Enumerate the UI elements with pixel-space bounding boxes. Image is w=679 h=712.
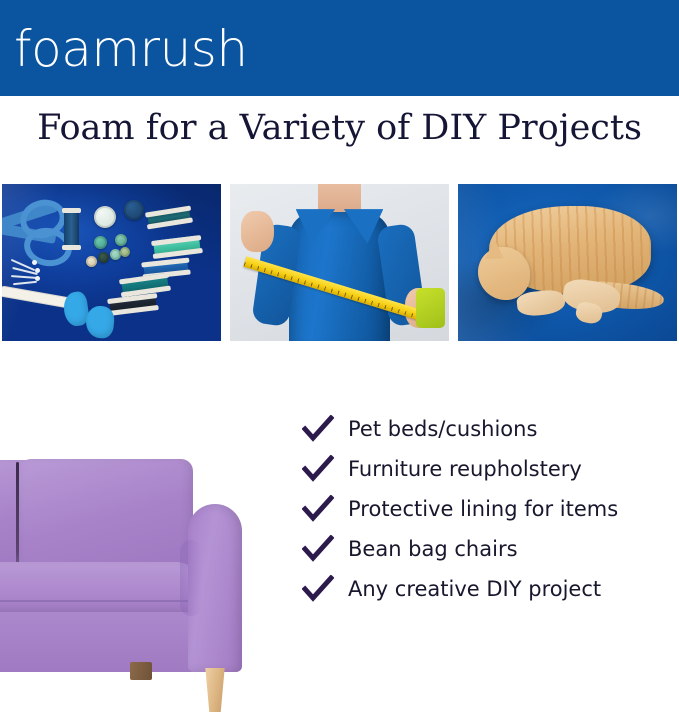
- cat-on-cushion-photo: [458, 184, 677, 341]
- sofa-arm-inner-shadow: [180, 540, 202, 616]
- pin-head-3: [35, 276, 40, 281]
- sewing-supplies-photo: [2, 184, 221, 341]
- list-item: Protective lining for items: [302, 489, 679, 529]
- check-icon: [302, 575, 334, 603]
- list-item: Bean bag chairs: [302, 529, 679, 569]
- sofa-leg-rear: [130, 662, 152, 680]
- button-dark-small: [98, 252, 109, 263]
- benefit-label: Bean bag chairs: [348, 536, 518, 562]
- benefits-list: Pet beds/cushions Furniture reupholstery…: [302, 409, 679, 609]
- button-large-white: [94, 206, 116, 228]
- header-banner: foamrush: [0, 0, 679, 96]
- benefit-label: Furniture reupholstery: [348, 456, 582, 482]
- cat-head: [478, 247, 531, 300]
- brand-logo: foamrush: [14, 20, 248, 78]
- benefit-label: Pet beds/cushions: [348, 416, 537, 442]
- check-icon: [302, 535, 334, 563]
- sofa-base-skirt: [0, 612, 202, 672]
- person-hand-left: [241, 211, 274, 252]
- list-item: Pet beds/cushions: [302, 409, 679, 449]
- benefit-label: Protective lining for items: [348, 496, 618, 522]
- thread-spool-navy-top: [64, 208, 79, 250]
- sofa-leg-front: [204, 668, 226, 712]
- button-teal-small: [94, 236, 107, 249]
- tape-measure-case: [416, 288, 444, 329]
- sofa-illustration: [0, 440, 285, 679]
- button-navy: [124, 200, 144, 220]
- pin-head-2: [35, 268, 40, 273]
- sofa-seat-cushion: [0, 562, 202, 614]
- list-item: Any creative DIY project: [302, 569, 679, 609]
- check-icon: [302, 495, 334, 523]
- tape-measure-photo: [230, 184, 449, 341]
- photo-strip: [0, 184, 679, 341]
- sofa-seat-seam: [0, 600, 202, 602]
- button-cream-small: [86, 256, 97, 267]
- benefit-label: Any creative DIY project: [348, 576, 601, 602]
- page-tagline: Foam for a Variety of DIY Projects: [0, 104, 679, 152]
- check-icon: [302, 415, 334, 443]
- pin-head-1: [32, 260, 37, 265]
- check-icon: [302, 455, 334, 483]
- button-olive-small: [120, 247, 130, 257]
- button-green-small: [115, 234, 127, 246]
- list-item: Furniture reupholstery: [302, 449, 679, 489]
